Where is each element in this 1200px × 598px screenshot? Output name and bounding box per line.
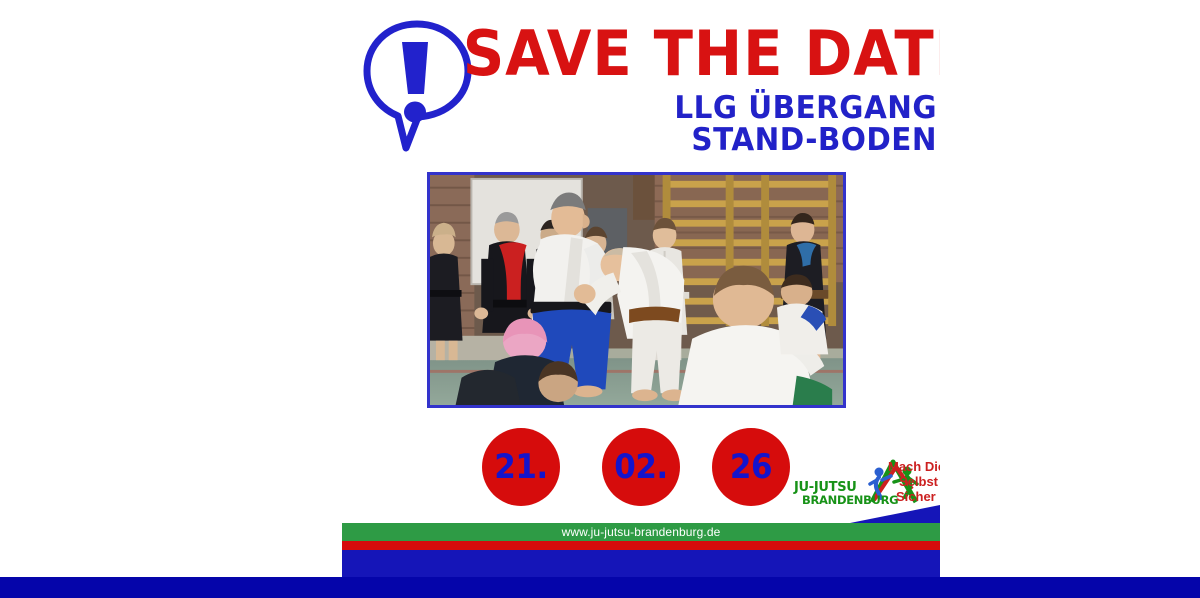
date-day-value: 21. <box>494 448 547 487</box>
website-url[interactable]: www.ju-jutsu-brandenburg.de <box>342 523 940 541</box>
footer-url-bar: www.ju-jutsu-brandenburg.de <box>342 523 940 541</box>
event-photo <box>430 175 843 405</box>
logo-tagline-line-2: Selbst <box>888 474 940 489</box>
date-circle-day: 21. <box>482 428 560 506</box>
poster-header: SAVE THE DATE LLG ÜBERGANG STAND-BODEN <box>342 0 940 170</box>
footer-red-bar <box>342 541 940 550</box>
logo-tagline-line-3: Sicher <box>888 489 940 504</box>
subtitle-line-1: LLG ÜBERGANG <box>543 92 937 124</box>
date-month-value: 02. <box>614 448 667 487</box>
logo-tagline: Mach Dich Selbst Sicher <box>888 459 940 504</box>
subtitle-line-2: STAND-BODEN <box>543 124 937 156</box>
poster-subtitle: LLG ÜBERGANG STAND-BODEN <box>543 92 937 156</box>
page-title: SAVE THE DATE <box>463 22 937 86</box>
date-year-value: 26 <box>730 448 772 487</box>
logo-wordmark: JU-JUTSU BRANDENBURG <box>794 481 890 507</box>
date-circle-month: 02. <box>602 428 680 506</box>
poster-canvas: SAVE THE DATE LLG ÜBERGANG STAND-BODEN <box>0 0 1200 598</box>
event-photo-frame <box>427 172 846 408</box>
blue-swoosh-accent <box>845 505 940 524</box>
logo-tagline-line-1: Mach Dich <box>888 459 940 474</box>
page-bottom-blue-strip <box>0 577 1200 598</box>
date-circle-year: 26 <box>712 428 790 506</box>
exclamation-speech-bubble-icon <box>362 18 472 153</box>
save-the-date-poster: SAVE THE DATE LLG ÜBERGANG STAND-BODEN <box>342 0 940 598</box>
